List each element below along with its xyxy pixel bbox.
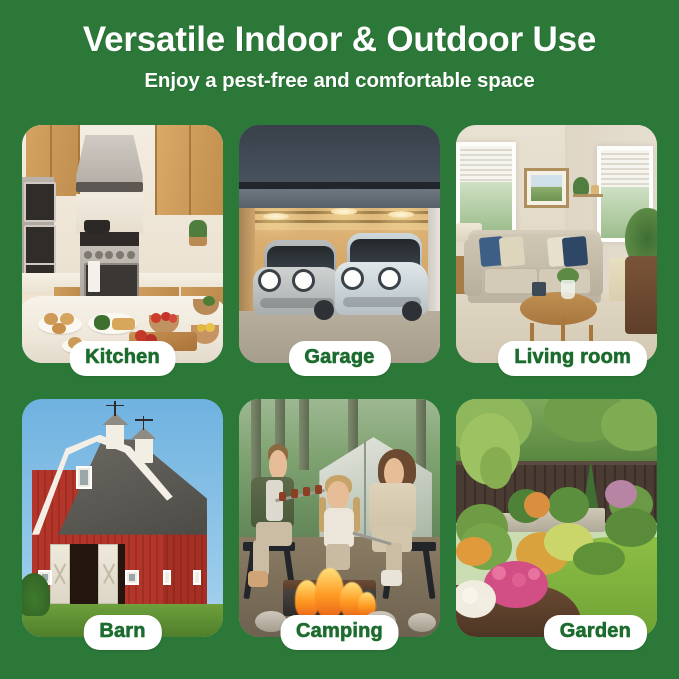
page-subtitle: Enjoy a pest-free and comfortable space — [0, 69, 679, 93]
garden-photo — [456, 399, 657, 637]
tile-label-garden: Garden — [544, 615, 647, 650]
kitchen-photo — [22, 125, 223, 363]
living-room-photo — [456, 125, 657, 363]
tile-living-room[interactable]: Living room — [456, 125, 657, 363]
badge-text: Camping — [296, 620, 383, 643]
garage-photo — [239, 125, 440, 363]
tile-label-living-room: Living room — [498, 341, 647, 376]
tile-garage[interactable]: Garage — [239, 125, 440, 363]
tile-label-camping: Camping — [280, 615, 399, 650]
tile-label-kitchen: Kitchen — [69, 341, 176, 376]
tile-camping[interactable]: Camping — [239, 399, 440, 637]
tile-label-barn: Barn — [83, 615, 161, 650]
badge-text: Garden — [560, 620, 631, 643]
camping-photo — [239, 399, 440, 637]
page-title: Versatile Indoor & Outdoor Use — [0, 22, 679, 59]
promo-poster: Versatile Indoor & Outdoor Use Enjoy a p… — [0, 0, 679, 679]
barn-photo — [22, 399, 223, 637]
tile-kitchen[interactable]: Kitchen — [22, 125, 223, 363]
badge-text: Living room — [514, 346, 631, 369]
badge-text: Barn — [99, 620, 145, 643]
tile-barn[interactable]: Barn — [22, 399, 223, 637]
tile-garden[interactable]: Garden — [456, 399, 657, 637]
header: Versatile Indoor & Outdoor Use Enjoy a p… — [0, 0, 679, 93]
tile-label-garage: Garage — [288, 341, 390, 376]
badge-text: Garage — [304, 346, 374, 369]
badge-text: Kitchen — [85, 346, 160, 369]
use-case-grid: Kitchen — [22, 125, 657, 637]
